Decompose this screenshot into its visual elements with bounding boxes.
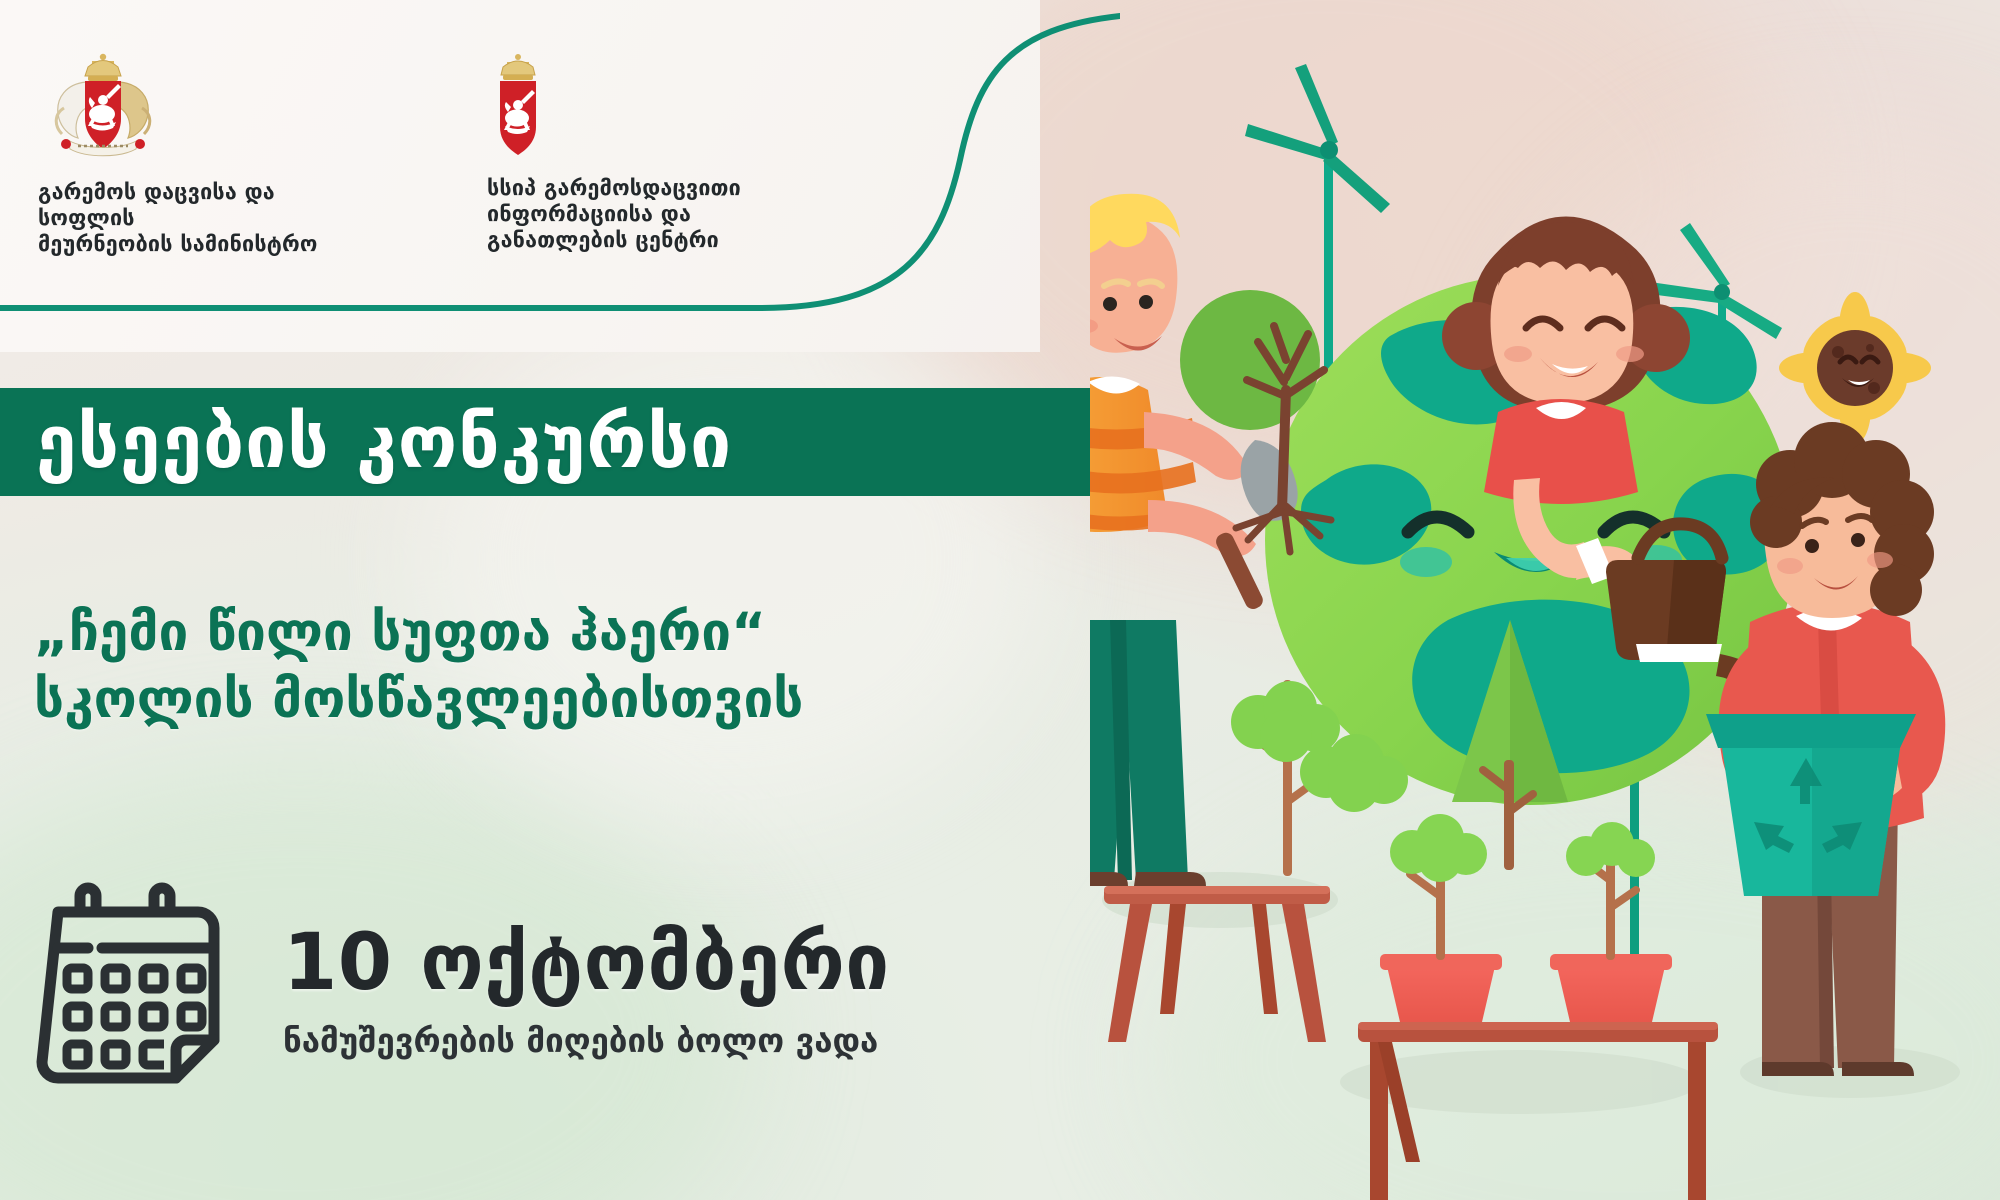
background-blob <box>420 300 1040 820</box>
page-title: ესეების კონკურსი <box>0 406 732 479</box>
georgia-coat-of-arms-with-supporters-icon <box>44 52 162 164</box>
poster-root: გარემოს დაცვისა და სოფლის მეურნეობის სამ… <box>0 0 2000 1200</box>
environmental-center-logo: სსიპ გარემოსდაცვითი ინფორმაციისა და განა… <box>487 52 817 255</box>
potted-seedling <box>1550 822 1672 1022</box>
children-caring-for-earth-illustration <box>1090 60 2000 1200</box>
subtitle: „ჩემი წილი სუფთა ჰაერი“ სკოლის მოსწავლეე… <box>34 600 1184 734</box>
deadline-date: 10 ოქტომბერი <box>283 924 890 1002</box>
ministry-logo-caption: გარემოს დაცვისა და სოფლის მეურნეობის სამ… <box>38 180 378 259</box>
deadline-note: ნამუშევრების მიღების ბოლო ვადა <box>283 1024 890 1057</box>
title-banner: ესეების კონკურსი <box>0 388 1131 496</box>
ministry-logo: გარემოს დაცვისა და სოფლის მეურნეობის სამ… <box>38 52 378 259</box>
subtitle-line-2: სკოლის მოსწავლეებისთვის <box>34 667 1184 734</box>
subtitle-line-1: „ჩემი წილი სუფთა ჰაერი“ <box>34 600 1184 667</box>
calendar-icon <box>36 880 241 1095</box>
georgia-small-coat-of-arms-icon <box>487 52 549 162</box>
deadline-texts: 10 ოქტომბერი ნამუშევრების მიღების ბოლო ვ… <box>283 918 890 1057</box>
potted-seedling <box>1380 814 1502 1022</box>
deadline-block: 10 ოქტომბერი ნამუშევრების მიღების ბოლო ვ… <box>36 880 890 1095</box>
environmental-center-logo-caption: სსიპ გარემოსდაცვითი ინფორმაციისა და განა… <box>487 176 817 255</box>
